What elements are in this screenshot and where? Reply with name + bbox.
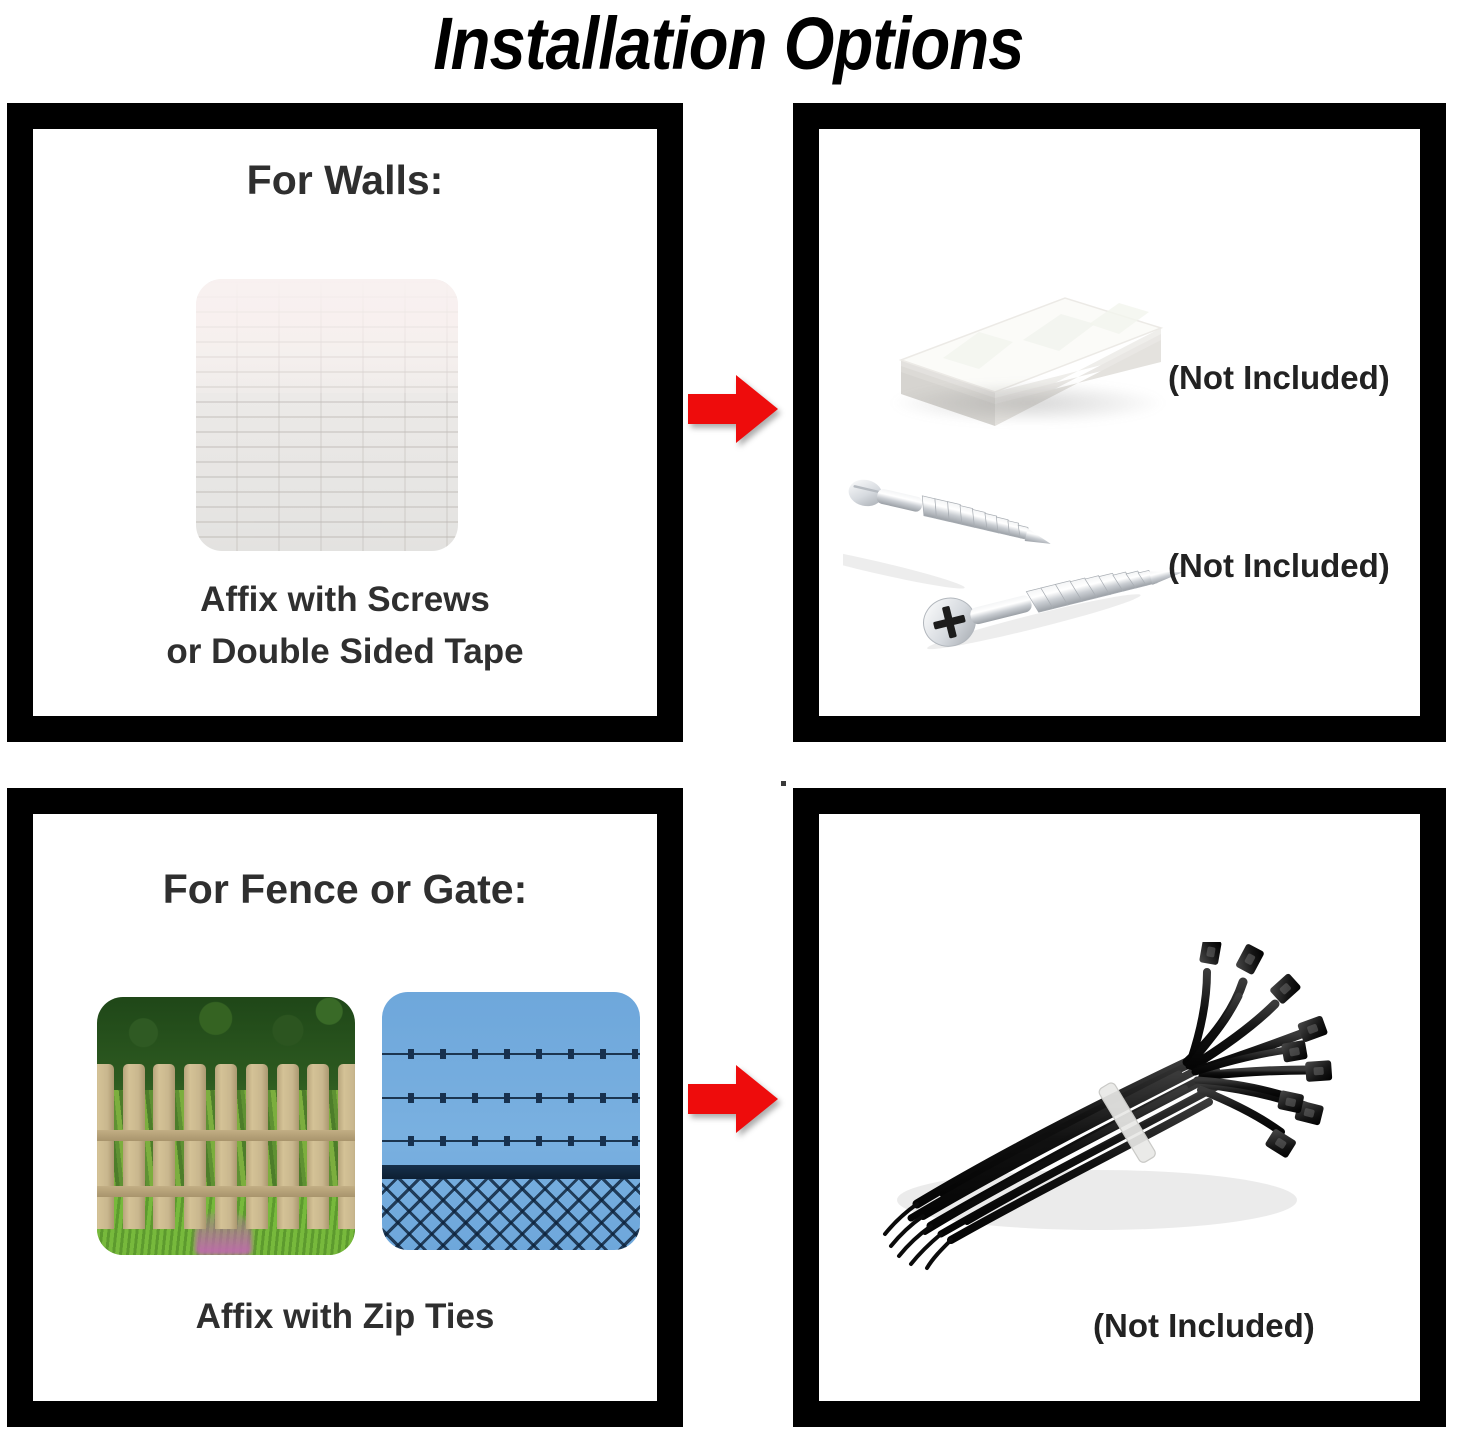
silver-wood-screws [843,467,1203,667]
fence-rail-bottom [97,1186,355,1197]
tape-not-included-label: (Not Included) [1168,359,1390,397]
fence-pickets [97,1064,355,1229]
arrow-right-icon [688,1062,778,1136]
panel-fence-hardware-content: (Not Included) [819,814,1420,1401]
brick-highlight [196,279,458,393]
for-walls-caption-line-1: Affix with Screws [33,574,657,626]
barbed-wire-strand-2 [382,1093,640,1103]
panel-for-walls-content: For Walls: Affix with Screws or Double S… [33,129,657,716]
barbed-wire-strand-3 [382,1136,640,1146]
image-artifact-speck [781,781,786,786]
tape-stack-shadow [893,382,1163,424]
panel-for-walls: For Walls: Affix with Screws or Double S… [7,103,683,742]
black-zip-tie-bundle [857,942,1337,1292]
panel-for-fence-or-gate: For Fence or Gate: [7,788,683,1427]
double-sided-tape-stack [883,262,1179,442]
for-fence-caption: Affix with Zip Ties [33,1291,657,1343]
for-walls-heading: For Walls: [33,157,657,204]
for-walls-caption: Affix with Screws or Double Sided Tape [33,574,657,678]
barbed-wire-strand-1 [382,1049,640,1059]
arrow-right-icon [688,372,778,446]
zip-ties-not-included-label: (Not Included) [1093,1307,1315,1345]
screws-illustration [843,467,1203,667]
screws-not-included-label: (Not Included) [1168,547,1390,585]
panel-wall-hardware: (Not Included) [793,103,1446,742]
wooden-picket-fence-photo [97,997,355,1255]
for-fence-heading: For Fence or Gate: [33,866,657,913]
for-fence-caption-line-1: Affix with Zip Ties [33,1291,657,1343]
installation-options-infographic: Installation Options For Walls: Affix wi… [0,0,1457,1434]
barbed-wire-chain-link-fence-photo [382,992,640,1250]
white-brick-wall-thumbnail [196,279,458,551]
page-title: Installation Options [87,2,1369,86]
zip-tie-bundle-illustration [857,942,1337,1292]
panel-fence-hardware: (Not Included) [793,788,1446,1427]
panel-wall-hardware-content: (Not Included) [819,129,1420,716]
chain-link-mesh [382,1178,640,1250]
panel-for-fence-content: For Fence or Gate: [33,814,657,1401]
fence-rail-top [97,1130,355,1141]
for-walls-caption-line-2: or Double Sided Tape [33,626,657,678]
